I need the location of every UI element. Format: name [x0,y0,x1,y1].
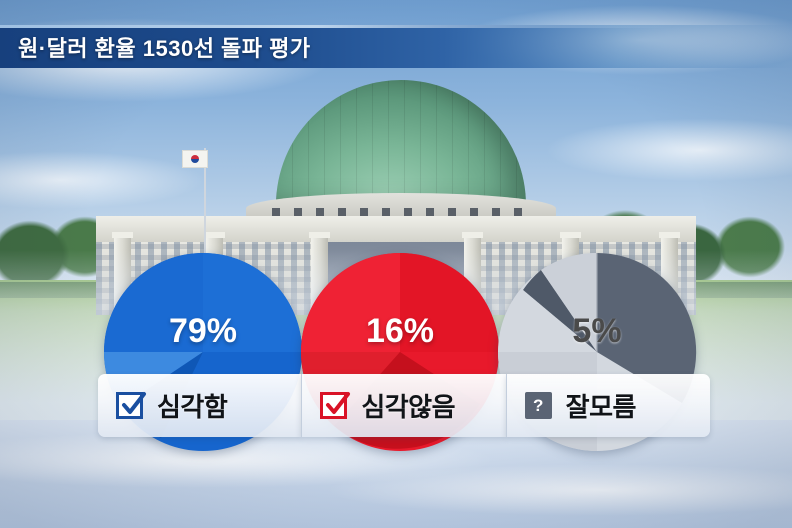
pie-value-dont-know: 5% [497,312,697,351]
check-glyph [118,390,148,420]
pie-value-serious: 79% [103,312,303,351]
legend-item-not-serious[interactable]: 심각않음 [301,374,505,437]
legend-item-serious[interactable]: 심각함 [98,374,301,437]
pie-value-not-serious: 16% [300,312,500,351]
check-glyph [322,390,352,420]
infographic-stage: 원·달러 환율 1530선 돌파 평가 79% 16% [0,0,792,528]
legend-label-serious: 심각함 [157,387,227,424]
question-mark-icon[interactable]: ? [525,392,552,419]
pie-chart-group: 79% 16% 5% [0,0,792,528]
legend-item-dont-know[interactable]: ? 잘모름 [506,374,710,437]
legend-bar: 심각함 심각않음 ? 잘모름 [98,374,710,437]
checkbox-checked-icon[interactable] [320,392,347,419]
checkbox-checked-icon[interactable] [116,392,143,419]
legend-label-dont-know: 잘모름 [566,387,636,424]
legend-label-not-serious: 심각않음 [361,387,455,424]
